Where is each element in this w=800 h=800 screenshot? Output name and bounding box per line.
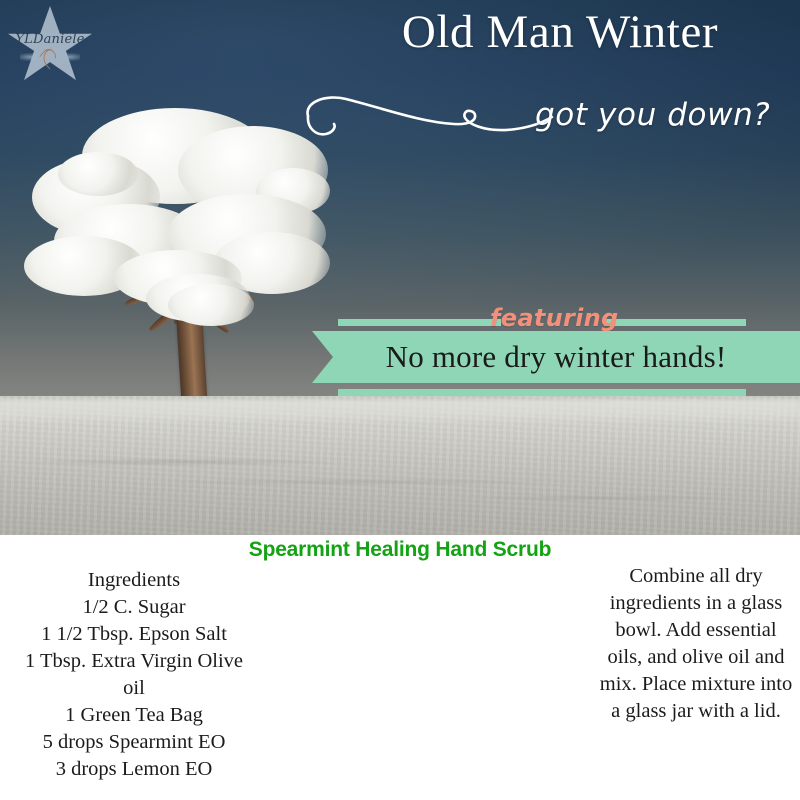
ribbon-rule-right [604,319,746,326]
ribbon-rule-left [338,319,501,326]
snow-horizon-drift [0,400,800,424]
directions-text: Combine all dry ingredients in a glass b… [596,563,796,725]
brand-logo[interactable]: YLDaniele [8,6,92,84]
frost-foliage [168,284,254,326]
ribbon-rule-bottom [338,389,746,396]
snow-tracks [0,452,800,512]
ribbon-banner-text: No more dry winter hands! [312,331,800,383]
hero-winter-photo: YLDaniele Old Man Winter got you down? f… [0,0,800,535]
frosted-tree-icon [18,108,330,438]
recipe-panel: Spearmint Healing Hand Scrub Ingredients… [0,535,800,800]
swash-flourish-icon [302,86,572,144]
ingredients-list: Ingredients 1/2 C. Sugar 1 1/2 Tbsp. Eps… [2,567,266,783]
page-title: Old Man Winter [330,6,790,59]
frost-foliage [58,152,138,196]
recipe-title: Spearmint Healing Hand Scrub [0,538,800,562]
poster-canvas: YLDaniele Old Man Winter got you down? f… [0,0,800,800]
page-subtitle: got you down? [535,84,797,146]
brand-logo-label: YLDaniele [8,32,92,47]
